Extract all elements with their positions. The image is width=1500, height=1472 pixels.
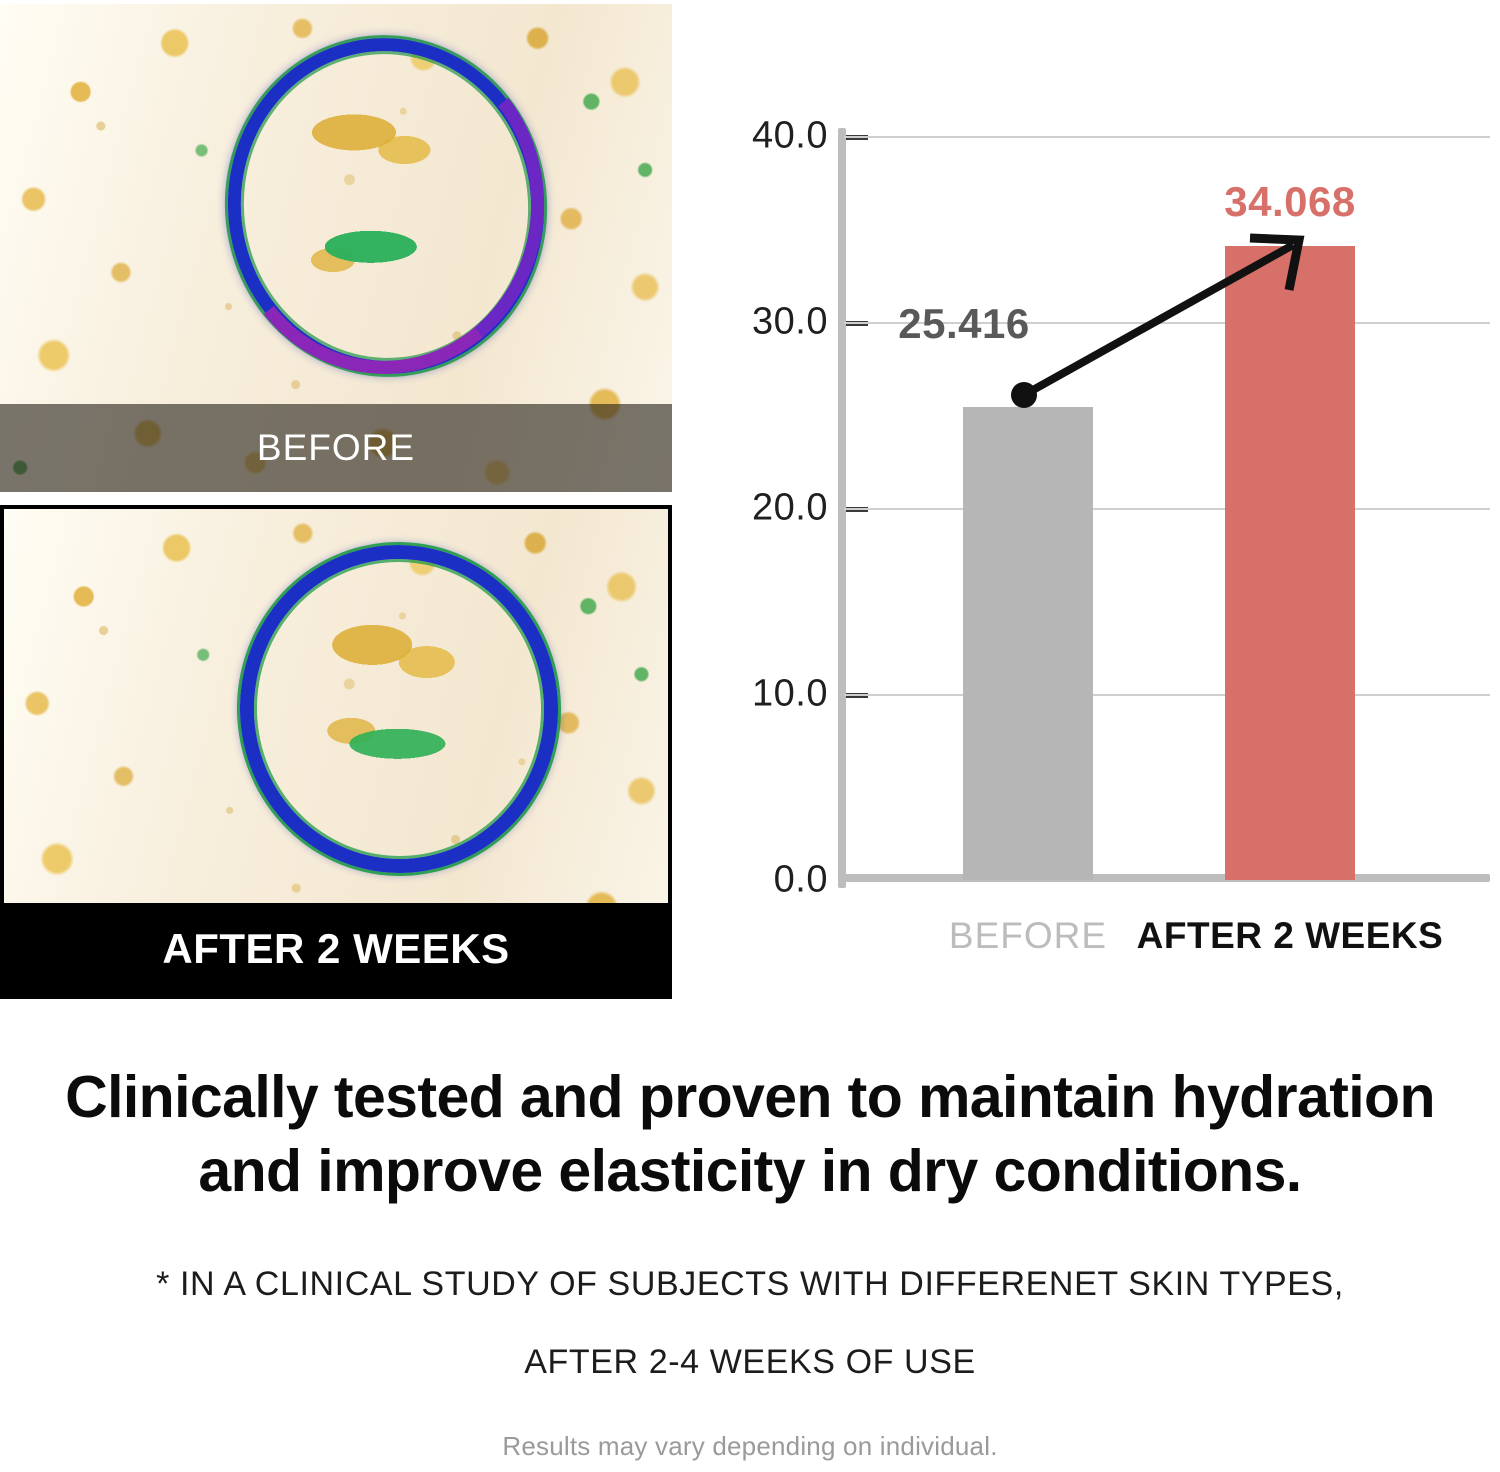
before-image-card: BEFORE (0, 4, 672, 492)
y-tick-label-0: 0.0 (678, 859, 828, 902)
before-caption-label: BEFORE (257, 427, 415, 469)
after-image-card: AFTER 2 WEEKS (0, 505, 672, 999)
bar-value-label-after: 34.068 (1224, 178, 1355, 226)
y-tick-label-20: 20.0 (678, 487, 828, 530)
y-axis-tick-labels: 40.0 30.0 20.0 10.0 0.0 (676, 0, 828, 900)
disclaimer-text: Results may vary depending on individual… (0, 1431, 1500, 1462)
headline: Clinically tested and proven to maintain… (0, 1060, 1500, 1209)
y-tick-label-10: 10.0 (678, 673, 828, 716)
gridline-20 (844, 508, 1490, 510)
plot-area (844, 136, 1490, 880)
gridline-40 (844, 136, 1490, 138)
y-tick-label-40: 40.0 (678, 115, 828, 158)
headline-line-1: Clinically tested and proven to maintain… (30, 1060, 1470, 1134)
headline-line-2: and improve elasticity in dry conditions… (30, 1134, 1470, 1208)
fineprint-line-1: * IN A CLINICAL STUDY OF SUBJECTS WITH D… (0, 1267, 1500, 1301)
gridline-10 (844, 694, 1490, 696)
y-tick-label-30: 30.0 (678, 301, 828, 344)
results-bar-chart: 40.0 30.0 20.0 10.0 0.0 25.416 (676, 0, 1500, 1000)
bar-after (1225, 246, 1355, 880)
bar-before (963, 407, 1093, 880)
microscopy-comparison-panel: BEFORE AFTER 2 WEEKS (0, 0, 676, 1000)
bar-value-label-before: 25.416 (898, 300, 1029, 348)
after-caption-band: AFTER 2 WEEKS (4, 903, 668, 995)
before-caption-band: BEFORE (0, 404, 672, 492)
x-tick-label-after: AFTER 2 WEEKS (1137, 915, 1444, 957)
x-tick-label-before: BEFORE (949, 915, 1107, 957)
marketing-copy-block: Clinically tested and proven to maintain… (0, 1060, 1500, 1462)
fineprint-line-2: AFTER 2-4 WEEKS OF USE (0, 1345, 1500, 1379)
after-caption-label: AFTER 2 WEEKS (162, 925, 509, 973)
